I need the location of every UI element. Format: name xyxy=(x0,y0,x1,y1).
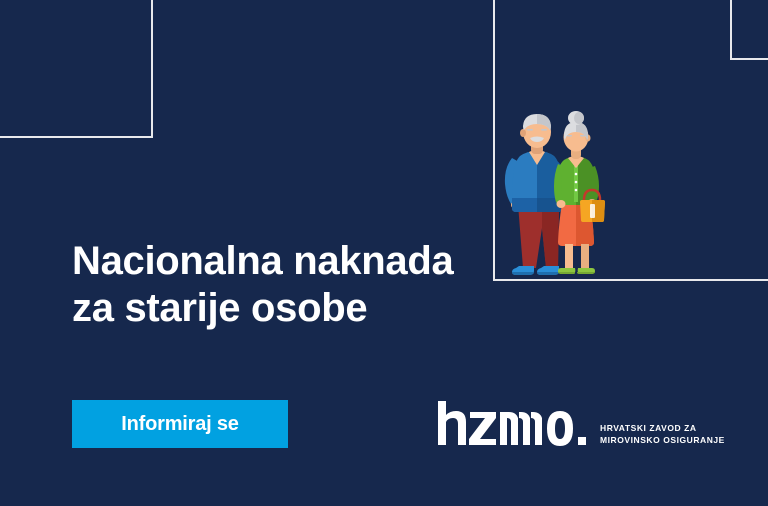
frame-top-right-decoration xyxy=(730,0,768,60)
hzmo-wordmark-icon xyxy=(438,401,590,452)
page-title: Nacionalna naknada za starije osobe xyxy=(72,238,453,332)
elderly-couple-illustration xyxy=(496,108,628,282)
promo-banner: Nacionalna naknada za starije osobe Info… xyxy=(0,0,768,506)
hzmo-logo-tagline: HRVATSKI ZAVOD ZA MIROVINSKO OSIGURANJE xyxy=(600,422,725,446)
informiraj-se-button[interactable]: Informiraj se xyxy=(72,400,288,448)
hzmo-logo[interactable]: HRVATSKI ZAVOD ZA MIROVINSKO OSIGURANJE xyxy=(438,404,725,452)
frame-top-left-decoration xyxy=(0,0,153,138)
